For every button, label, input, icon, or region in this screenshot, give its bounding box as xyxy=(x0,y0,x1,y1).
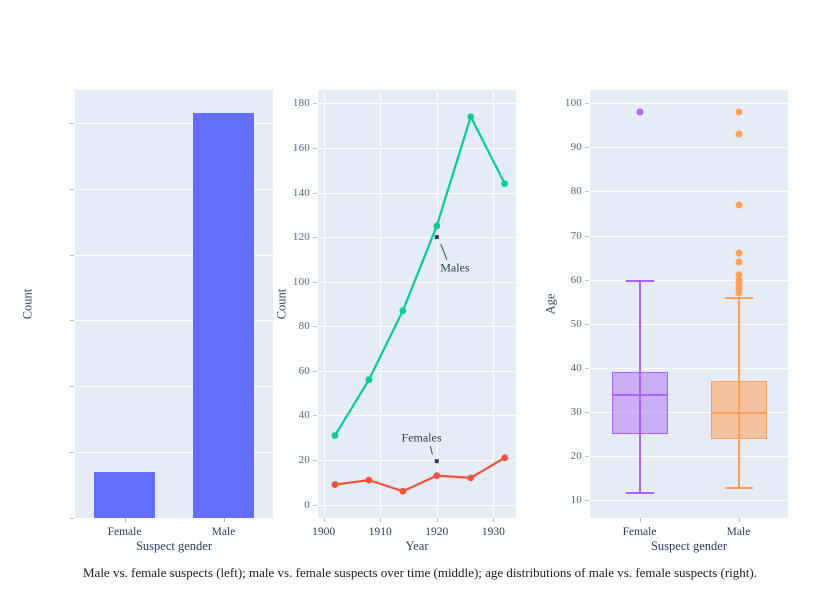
line-marker-females[interactable] xyxy=(366,477,373,484)
box-upper-whisker xyxy=(738,297,740,381)
box-x-tick-label-female: Female xyxy=(623,526,657,538)
annotation-arrow-head xyxy=(435,459,439,463)
annotation-arrow-line xyxy=(441,244,447,260)
box-y-tick-mark xyxy=(585,412,589,413)
line-x-tick-label-1920: 1920 xyxy=(425,526,448,538)
box-y-tick-label: 60 xyxy=(542,274,582,286)
bar-male[interactable] xyxy=(193,113,254,518)
box-chart-panel: 102030405060708090100 FemaleMale Age Sus… xyxy=(535,0,840,590)
box-y-tick-mark xyxy=(585,191,589,192)
box-y-tick-label: 80 xyxy=(542,185,582,197)
box-median-male xyxy=(711,412,767,414)
box-lower-cap xyxy=(725,487,753,489)
bar-x-tick-label-female: Female xyxy=(108,526,142,538)
box-x-tick-mark xyxy=(640,518,641,522)
box-outlier-male[interactable] xyxy=(735,259,742,266)
bar-y-tick-mark xyxy=(70,123,74,124)
box-upper-whisker xyxy=(639,280,641,373)
box-gridline xyxy=(590,500,788,501)
line-y-axis-title: Count xyxy=(275,289,290,320)
bar-y-tick-mark xyxy=(70,386,74,387)
box-gridline xyxy=(590,280,788,281)
box-y-tick-mark xyxy=(585,368,589,369)
bar-x-tick-label-male: Male xyxy=(212,526,236,538)
line-path-males xyxy=(335,117,505,436)
bar-x-tick-mark xyxy=(125,518,126,522)
box-y-tick-mark xyxy=(585,280,589,281)
box-outlier-male[interactable] xyxy=(735,250,742,257)
box-outlier-male[interactable] xyxy=(735,109,742,116)
box-y-tick-label: 50 xyxy=(542,318,582,330)
line-x-axis-title: Year xyxy=(405,539,428,554)
line-marker-females[interactable] xyxy=(332,481,339,488)
line-marker-males[interactable] xyxy=(366,376,373,383)
line-marker-males[interactable] xyxy=(332,432,339,439)
box-gridline xyxy=(590,236,788,237)
box-gridline xyxy=(590,103,788,104)
line-marker-females[interactable] xyxy=(467,474,474,481)
annotation-label-males: Males xyxy=(440,261,469,276)
box-x-axis-title: Suspect gender xyxy=(651,539,727,554)
bar-y-tick-mark xyxy=(70,189,74,190)
bar-y-tick-mark xyxy=(70,518,74,519)
box-plot-area xyxy=(590,90,788,518)
bar-x-tick-mark xyxy=(224,518,225,522)
line-x-tick-label-1930: 1930 xyxy=(482,526,505,538)
box-outlier-male[interactable] xyxy=(735,289,742,296)
annotation-arrow-head xyxy=(435,235,439,239)
box-y-tick-mark xyxy=(585,103,589,104)
box-y-tick-mark xyxy=(585,147,589,148)
line-chart-panel: 020406080100120140160180 MalesFemales 19… xyxy=(290,0,535,590)
line-x-tick-mark xyxy=(493,518,494,522)
line-x-tick-mark xyxy=(324,518,325,522)
box-y-tick-label: 20 xyxy=(542,450,582,462)
box-y-tick-label: 40 xyxy=(542,362,582,374)
line-path-females xyxy=(335,458,505,491)
line-x-tick-label-1900: 1900 xyxy=(312,526,335,538)
bar-female[interactable] xyxy=(94,472,155,518)
box-x-tick-mark xyxy=(739,518,740,522)
line-x-tick-mark xyxy=(437,518,438,522)
box-iqr-female[interactable] xyxy=(612,372,668,434)
line-x-tick-label-1910: 1910 xyxy=(369,526,392,538)
figure-caption: Male vs. female suspects (left); male vs… xyxy=(0,565,840,581)
box-median-female xyxy=(612,394,668,396)
line-marker-males[interactable] xyxy=(399,307,406,314)
box-y-tick-label: 100 xyxy=(542,97,582,109)
bar-gridline xyxy=(75,518,273,519)
annotation-arrow-line xyxy=(430,446,432,454)
line-x-tick-mark xyxy=(380,518,381,522)
box-upper-cap xyxy=(626,280,654,282)
box-lower-cap xyxy=(626,492,654,494)
figure-canvas: 0100200300400500600 FemaleMale Count Sus… xyxy=(0,0,840,590)
box-x-tick-label-male: Male xyxy=(727,526,751,538)
box-outlier-male[interactable] xyxy=(735,131,742,138)
box-y-axis-title: Age xyxy=(544,294,559,315)
box-y-tick-label: 90 xyxy=(542,141,582,153)
bar-chart-panel: 0100200300400500600 FemaleMale Count Sus… xyxy=(0,0,290,590)
box-gridline xyxy=(590,147,788,148)
box-gridline xyxy=(590,368,788,369)
line-marker-females[interactable] xyxy=(433,472,440,479)
box-gridline xyxy=(590,191,788,192)
box-y-tick-mark xyxy=(585,236,589,237)
box-gridline xyxy=(590,324,788,325)
bar-y-tick-mark xyxy=(70,320,74,321)
line-marker-females[interactable] xyxy=(501,454,508,461)
bar-y-tick-mark xyxy=(70,452,74,453)
line-marker-males[interactable] xyxy=(433,223,440,230)
line-series-svg xyxy=(290,0,535,590)
box-gridline xyxy=(590,456,788,457)
box-y-tick-label: 10 xyxy=(542,494,582,506)
bar-y-axis-title: Count xyxy=(21,289,36,320)
box-lower-whisker xyxy=(738,439,740,488)
bar-y-tick-mark xyxy=(70,255,74,256)
box-y-tick-label: 70 xyxy=(542,230,582,242)
box-y-tick-mark xyxy=(585,500,589,501)
box-outlier-male[interactable] xyxy=(735,201,742,208)
line-marker-males[interactable] xyxy=(467,113,474,120)
box-outlier-female[interactable] xyxy=(636,109,643,116)
annotation-label-females: Females xyxy=(402,430,442,445)
box-y-tick-label: 30 xyxy=(542,406,582,418)
box-upper-cap xyxy=(725,297,753,299)
line-marker-males[interactable] xyxy=(501,180,508,187)
box-y-tick-mark xyxy=(585,456,589,457)
bar-x-axis-title: Suspect gender xyxy=(136,539,212,554)
box-iqr-male[interactable] xyxy=(711,381,767,438)
box-lower-whisker xyxy=(639,434,641,491)
line-marker-females[interactable] xyxy=(399,488,406,495)
box-y-tick-mark xyxy=(585,324,589,325)
